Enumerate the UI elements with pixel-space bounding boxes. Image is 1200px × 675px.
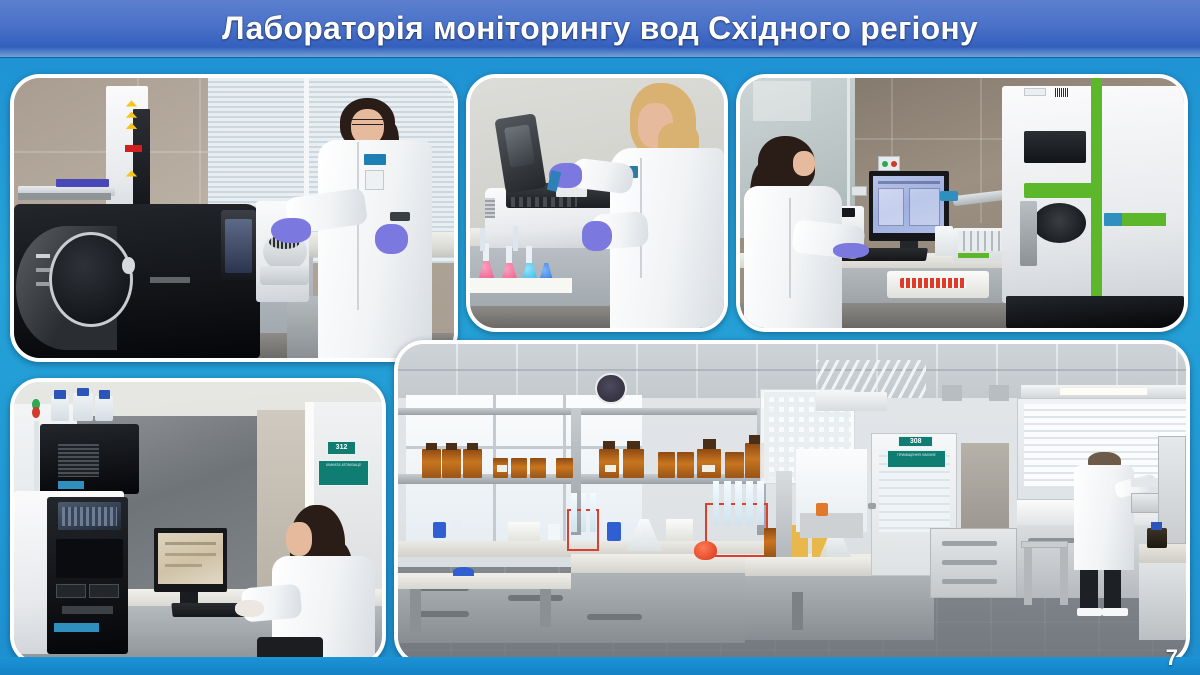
gc-tower-window: [133, 109, 151, 207]
rack-green-label: [958, 253, 989, 258]
icpms-base-cart: [1006, 296, 1184, 329]
bottle-label: [497, 465, 507, 472]
island-table-leg-2: [540, 589, 551, 627]
side-bench-cabinet: [1139, 563, 1186, 639]
solvent-cap-3: [99, 390, 110, 398]
dark-bottle-cap: [1151, 522, 1162, 530]
test-tube: [590, 493, 596, 531]
stool-leg-2: [1060, 548, 1068, 605]
hplc-drawer-right: [89, 584, 118, 598]
drawer-handle: [508, 595, 563, 601]
analyst-glove-right: [375, 224, 408, 255]
sampler-probe-holder: [940, 191, 958, 201]
far-orange-bottle: [816, 503, 829, 516]
hplc-detector-badge: [58, 481, 84, 488]
fume-hood-lamp: [1060, 388, 1147, 395]
analyst-glove-lower: [582, 221, 612, 251]
wash-bottle: [935, 226, 953, 256]
coat-name-badge: [365, 170, 383, 190]
photo-hplc-scene: 312 КІМНАТА АТОМІЗАЦІЇ: [14, 382, 382, 662]
operator-cheek: [793, 151, 815, 176]
hplc-detector-keypad: [58, 444, 98, 478]
wall-vent-2: [989, 385, 1009, 401]
hplc-display-grid: [62, 507, 117, 527]
bench-leg: [792, 592, 803, 630]
reagent-bottle: [530, 458, 546, 477]
reagent-bottle-cap: [749, 435, 761, 444]
test-tube: [713, 481, 719, 526]
bottom-accent-strip: [0, 657, 1200, 675]
door-handle[interactable]: [868, 503, 876, 509]
drawer-handle: [587, 614, 642, 620]
tile-seam-3: [855, 138, 1024, 140]
flask-neck-2: [506, 246, 512, 264]
reagent-bottle: [677, 452, 694, 477]
door-sign-number: 312: [327, 441, 356, 455]
test-tube: [724, 481, 730, 526]
reagent-bottle: [623, 449, 643, 478]
solvent-line: [34, 421, 38, 494]
wall-vent-1: [942, 385, 962, 401]
far-bench: [800, 513, 863, 538]
hplc-drawer-left: [56, 584, 85, 598]
slide-canvas: Лабораторія моніторингу вод Східного рег…: [0, 0, 1200, 675]
reagent-bottle: [725, 452, 744, 477]
door-sign-plate: ПРИМІЩЕННЯ ХІМІЧНЕ: [887, 450, 947, 468]
gcms-brand-mark: [150, 277, 190, 283]
photo-gcms-analyst[interactable]: [10, 74, 458, 362]
drawer-handle: [942, 541, 997, 546]
glass-cylinder-1: [449, 519, 462, 538]
reagent-bottle: [442, 449, 461, 478]
red-sample-caps: [900, 278, 967, 288]
ceiling-grid-line: [398, 369, 1186, 371]
bench-cabinets-right: [745, 576, 934, 640]
volumetric-flask-1: [480, 228, 485, 251]
page-title: Лабораторія моніторингу вод Східного рег…: [222, 10, 978, 47]
shelf-upper-rail: [398, 408, 776, 416]
technician-shoe-right: [1102, 608, 1127, 616]
blue-stand-2: [607, 522, 621, 541]
spectrophotometer-keypad[interactable]: [511, 197, 577, 207]
autosampler-base: [18, 193, 110, 200]
screen-toolbar: [878, 181, 940, 184]
bottle-label: [605, 465, 616, 473]
reagent-bottle: [599, 449, 619, 478]
hplc-handle: [62, 606, 114, 614]
operator-lab-coat: [744, 186, 842, 329]
dark-bottle: [1147, 528, 1167, 547]
glass-frosted-pane: [753, 81, 811, 121]
analyst-wristwatch: [390, 212, 410, 220]
solvent-cap-2: [77, 388, 90, 396]
solvent-bottle-3: [95, 396, 113, 421]
icpms-torch-coil: [1033, 203, 1086, 243]
icpms-green-panel: [1024, 183, 1099, 198]
operator-face: [286, 522, 312, 556]
title-glow: [0, 47, 1200, 57]
reagent-bottle-cap: [426, 443, 437, 451]
test-tube: [581, 493, 587, 531]
icpms-tubing: [1020, 201, 1038, 266]
white-container-1: [508, 522, 540, 541]
analyst-glove-left: [271, 218, 311, 243]
reagent-bottle: [511, 458, 527, 477]
reagent-bottle-cap: [446, 443, 457, 451]
icpms-window: [1024, 131, 1086, 164]
wall-clock: [595, 373, 627, 405]
photo-hplc-workstation[interactable]: 312 КІМНАТА АТОМІЗАЦІЇ: [10, 378, 386, 666]
indicator-red: [891, 161, 897, 167]
technician-leg-right: [1104, 570, 1121, 611]
drawer-handle: [942, 560, 997, 565]
test-tube: [757, 481, 763, 526]
air-conditioner: [816, 392, 887, 411]
icpms-badge-green: [1122, 213, 1166, 226]
coat-seam: [789, 198, 791, 298]
red-label: [125, 145, 143, 152]
bottle-label: [702, 465, 715, 473]
test-tube: [746, 481, 752, 526]
screen-panel-right: [909, 188, 940, 226]
white-container-2: [666, 519, 694, 541]
rubber-bulb: [694, 541, 718, 560]
reagent-bottle: [697, 449, 721, 478]
gc-indicator-1: [36, 254, 50, 258]
screen-row-3: [165, 564, 202, 567]
gc-oven-ring: [49, 232, 133, 327]
photo-spectro-scene: [470, 78, 724, 328]
door-sign-text: КІМНАТА АТОМІЗАЦІЇ: [319, 461, 369, 467]
door-sign-plate: КІМНАТА АТОМІЗАЦІЇ: [318, 460, 370, 485]
drawer-handle: [942, 579, 997, 584]
door-sign-number: 308: [898, 436, 933, 447]
gc-indicator-2: [36, 268, 50, 272]
page-number: 7: [1166, 645, 1178, 671]
screen-row-2: [165, 553, 217, 556]
indicator-green: [882, 161, 888, 167]
island-table-top: [398, 573, 571, 589]
island-table-leg-1: [410, 589, 421, 634]
reagent-bottle: [658, 452, 675, 477]
emergency-indicator-red: [32, 407, 39, 418]
gc-touchscreen[interactable]: [225, 219, 251, 272]
solvent-bottle-1: [51, 396, 69, 421]
gc-indicator-3: [36, 282, 50, 286]
technician-shoe-left: [1077, 608, 1102, 616]
hplc-brand-badge: [54, 623, 98, 633]
autosampler-vial-strip: [56, 179, 109, 187]
blue-funnel: [453, 567, 473, 577]
screen-row-1: [165, 542, 217, 545]
icpms-label-plate: [1024, 88, 1046, 96]
photo-icpms-scene: [740, 78, 1184, 328]
coat-logo-badge: [364, 154, 386, 165]
instrument-vent: [485, 198, 495, 218]
reagent-bottle: [556, 458, 573, 477]
photo-lab-room-overview[interactable]: 308 ПРИМІЩЕННЯ ХІМІЧНЕ: [394, 340, 1190, 666]
drawer-handle: [414, 611, 469, 617]
icpms-barcode: [1055, 88, 1068, 97]
slide-title-bar: Лабораторія моніторингу вод Східного рег…: [0, 0, 1200, 58]
monitor-stand: [180, 592, 198, 603]
photo-gcms-scene: [14, 78, 454, 358]
gc-oven-knob: [122, 257, 135, 274]
test-tube: [571, 493, 577, 531]
analyst-glasses: [352, 119, 383, 126]
bench-divider-post: [776, 471, 792, 560]
door-sign-text: ПРИМІЩЕННЯ ХІМІЧНЕ: [888, 451, 946, 457]
volumetric-flask-2: [513, 226, 518, 251]
reagent-bottle: [463, 449, 482, 478]
solvent-bottle-2: [73, 393, 93, 421]
blue-stand-1: [433, 522, 446, 538]
glass-cylinder-2: [548, 524, 561, 540]
operator-glove: [833, 243, 869, 258]
wall-socket: [851, 186, 867, 196]
reagent-bottle-cap: [627, 441, 640, 449]
bench-liner: [470, 278, 572, 293]
flask-neck-3: [526, 246, 532, 264]
ms-carousel-base: [260, 266, 308, 286]
coat-seam: [357, 142, 359, 310]
photo-spectrophotometer-analyst[interactable]: [466, 74, 728, 332]
reagent-bottle: [422, 449, 441, 478]
screen-panel-left: [878, 188, 905, 226]
stool-leg-1: [1024, 548, 1032, 605]
hplc-autosampler-bay: [56, 539, 122, 578]
reagent-bottle-cap: [703, 439, 716, 449]
reagent-bottle-cap: [467, 443, 478, 451]
photo-labroom-scene: 308 ПРИМІЩЕННЯ ХІМІЧНЕ: [398, 344, 1186, 662]
test-tube: [735, 481, 741, 526]
photo-icpms-workstation[interactable]: [736, 74, 1188, 332]
operator-hand: [235, 600, 264, 617]
solvent-cap-1: [54, 390, 65, 398]
technician-leg-left: [1080, 570, 1097, 611]
reagent-bottle-cap: [603, 441, 616, 449]
